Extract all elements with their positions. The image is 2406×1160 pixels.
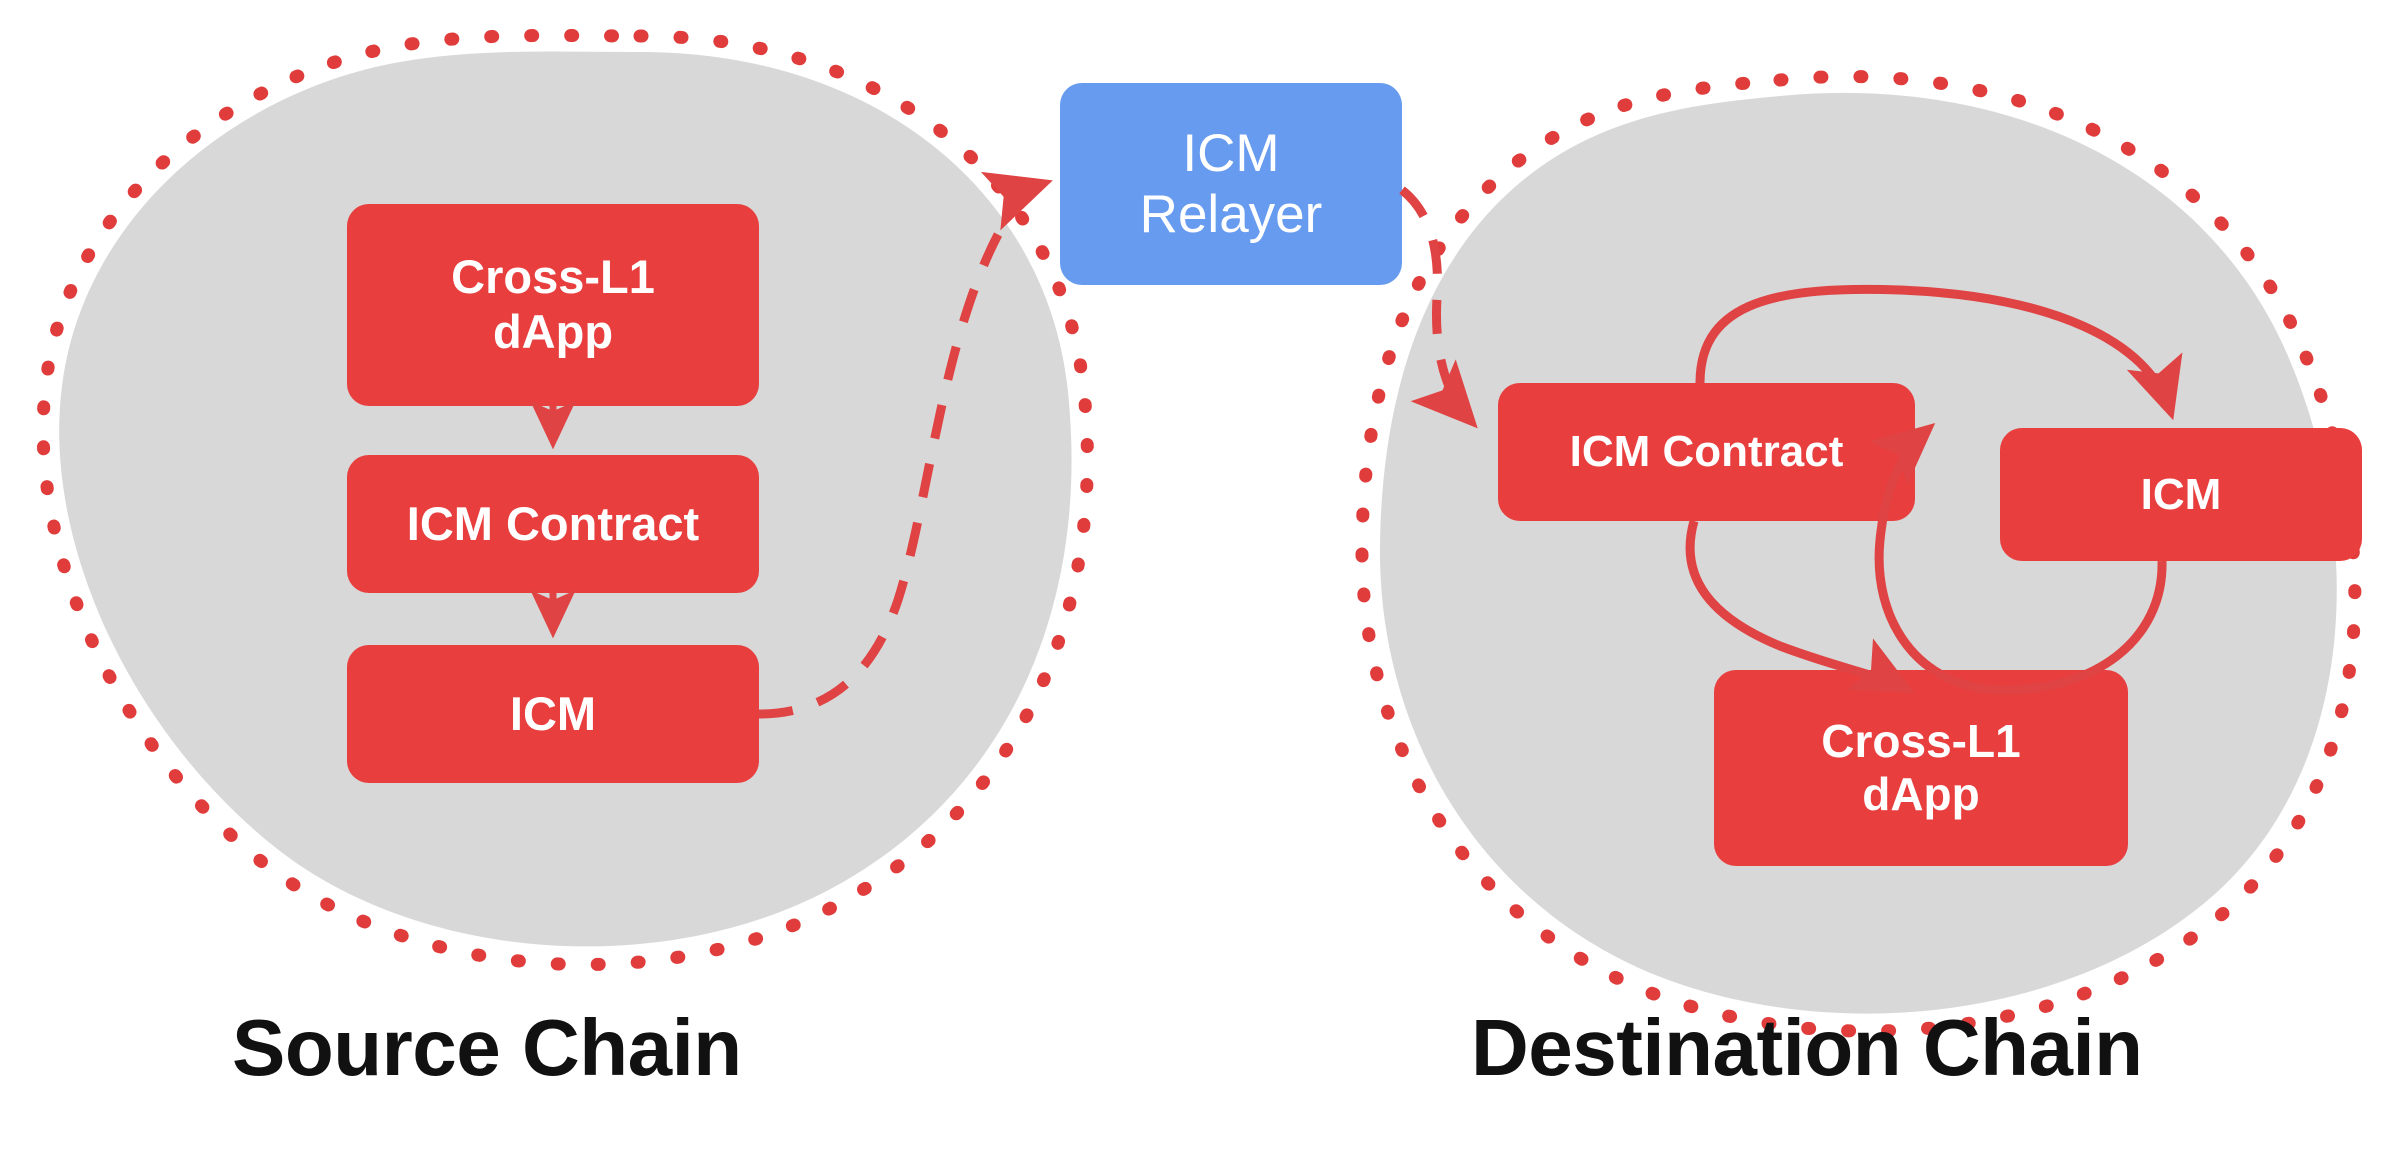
node-box-icm-relayer[interactable] (1060, 83, 1402, 285)
node-box-src-dapp[interactable] (347, 204, 759, 406)
caption-destination-chain: Destination Chain (1471, 1002, 2143, 1094)
node-box-dst-icm[interactable] (2000, 428, 2362, 561)
node-box-src-icm-contract[interactable] (347, 455, 759, 593)
caption-source-chain: Source Chain (232, 1002, 742, 1094)
node-box-src-icm[interactable] (347, 645, 759, 783)
node-box-dst-dapp[interactable] (1714, 670, 2128, 866)
diagram-vector-layer (0, 0, 2406, 1160)
node-box-dst-icm-contract[interactable] (1498, 383, 1915, 521)
diagram-canvas: Cross-L1 dApp ICM Contract ICM ICM Relay… (0, 0, 2406, 1160)
